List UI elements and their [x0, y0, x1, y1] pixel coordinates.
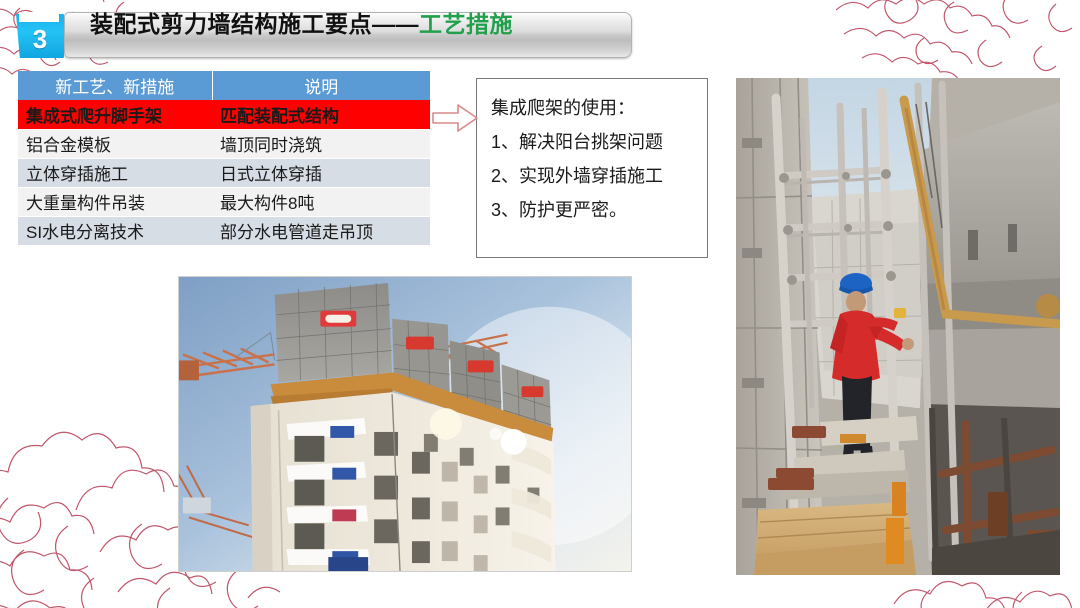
table-row: 立体穿插施工 日式立体穿插: [18, 158, 430, 187]
cell-description: 最大构件8吨: [212, 187, 430, 216]
right-arrow-icon: [432, 103, 478, 133]
badge-notch: [19, 12, 59, 22]
page-title-accent: 工艺措施: [419, 11, 513, 37]
table-row: SI水电分离技术 部分水电管道走吊顶: [18, 216, 430, 245]
cell-measure: 铝合金模板: [18, 129, 212, 158]
table-col-header-description: 说明: [212, 71, 430, 100]
callout-item-3: 3、防护更严密。: [491, 193, 697, 227]
cell-description: 日式立体穿插: [212, 158, 430, 187]
cell-measure: 集成式爬升脚手架: [18, 100, 212, 129]
table-row: 集成式爬升脚手架 匹配装配式结构: [18, 100, 430, 129]
cell-description: 墙顶同时浇筑: [212, 129, 430, 158]
slide-canvas: 3 装配式剪力墙结构施工要点——工艺措施 新工艺、新措施 说明 集成式爬升脚手架…: [0, 0, 1080, 608]
photo-building-construction: [178, 276, 632, 572]
table-row: 大重量构件吊装 最大构件8吨: [18, 187, 430, 216]
callout-item-1: 1、解决阳台挑架问题: [491, 125, 697, 159]
callout-item-2: 2、实现外墙穿插施工: [491, 159, 697, 193]
page-title-main: 装配式剪力墙结构施工要点——: [90, 11, 419, 37]
table-body: 集成式爬升脚手架 匹配装配式结构 铝合金模板 墙顶同时浇筑 立体穿插施工 日式立…: [18, 100, 430, 245]
table-header-row: 新工艺、新措施 说明: [18, 71, 430, 100]
callout-box: 集成爬架的使用： 1、解决阳台挑架问题 2、实现外墙穿插施工 3、防护更严密。: [476, 78, 708, 258]
page-title: 装配式剪力墙结构施工要点——工艺措施: [90, 11, 513, 37]
table-row: 铝合金模板 墙顶同时浇筑: [18, 129, 430, 158]
cell-measure: 大重量构件吊装: [18, 187, 212, 216]
callout-title: 集成爬架的使用：: [491, 91, 697, 125]
cell-measure: SI水电分离技术: [18, 216, 212, 245]
cell-measure: 立体穿插施工: [18, 158, 212, 187]
photo-scaffold-worker: [736, 78, 1060, 575]
table-col-header-measure: 新工艺、新措施: [18, 71, 212, 100]
new-technology-table: 新工艺、新措施 说明 集成式爬升脚手架 匹配装配式结构 铝合金模板 墙顶同时浇筑…: [18, 71, 430, 246]
cell-description: 匹配装配式结构: [212, 100, 430, 129]
cell-description: 部分水电管道走吊顶: [212, 216, 430, 245]
